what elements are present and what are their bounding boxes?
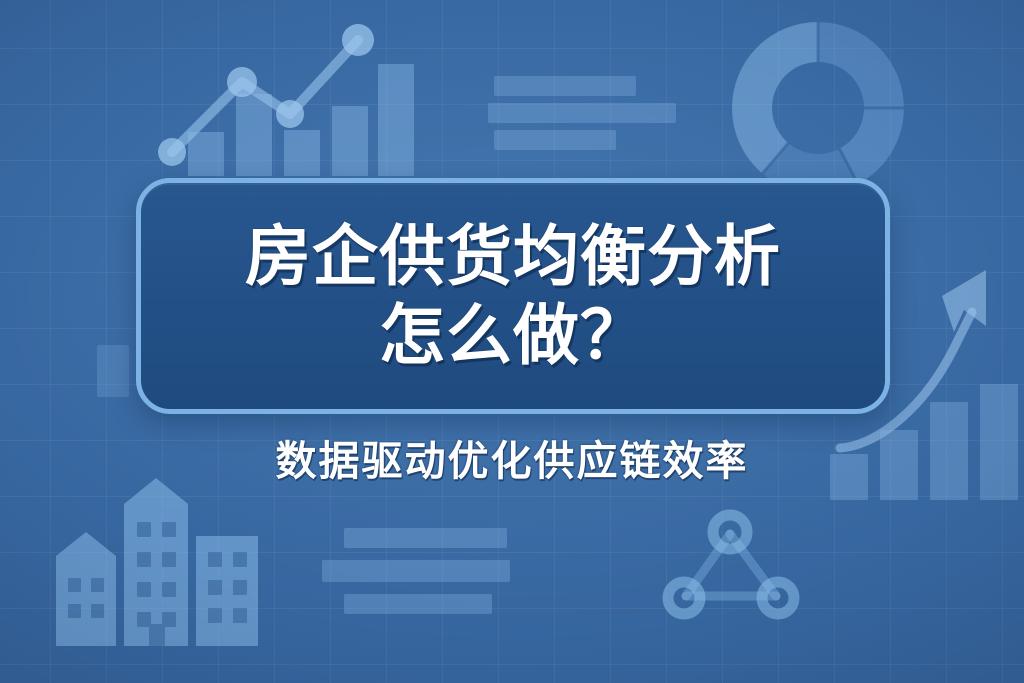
page-title-line-2: 怎么做？ [379, 301, 647, 370]
title-card: 房企供货均衡分析 怎么做？ [136, 178, 890, 414]
page-subtitle: 数据驱动优化供应链效率 [0, 427, 1024, 487]
poster-canvas: 房企供货均衡分析 怎么做？ 数据驱动优化供应链效率 [0, 0, 1024, 683]
page-title-line-1: 房企供货均衡分析 [245, 222, 781, 291]
